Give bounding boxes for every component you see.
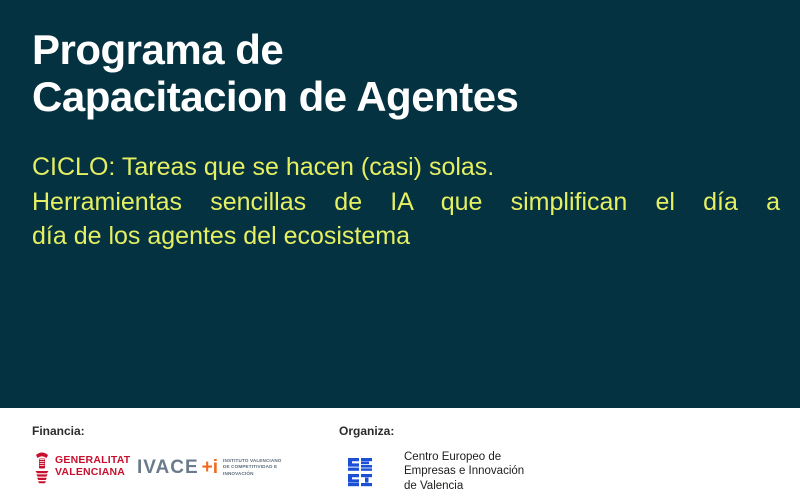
generalitat-crest-icon (34, 450, 50, 484)
financia-label: Financia: (32, 424, 85, 438)
generalitat-valenciana-logo: GENERALITAT VALENCIANA (34, 450, 130, 484)
hero-section: Programa de Capacitacion de Agentes CICL… (0, 0, 800, 408)
generalitat-line-2: VALENCIANA (55, 467, 130, 479)
ceei-mark-icon (348, 455, 396, 489)
event-poster: Programa de Capacitacion de Agentes CICL… (0, 0, 800, 500)
page-title: Programa de Capacitacion de Agentes (32, 26, 752, 120)
ivace-subtitle: INSTITUTO VALENCIANO DE COMPETITIVIDAD E… (223, 458, 285, 477)
date-modality-row: Lunes 6 mayo, 20 mayo y 3 junio PRESENCI… (0, 270, 800, 360)
ceei-line-3: de Valencia (404, 479, 524, 493)
ceei-wordmark: Centro Europeo de Empresas e Innovación … (404, 450, 524, 493)
ceei-line-1: Centro Europeo de (404, 450, 524, 464)
organiza-label: Organiza: (339, 424, 394, 438)
subtitle-line-3: día de los agentes del ecosistema (32, 219, 780, 254)
ivace-logo: IVACE +i INSTITUTO VALENCIANO DE COMPETI… (137, 458, 285, 477)
ceei-line-2: Empresas e Innovación (404, 464, 524, 478)
ivace-plus-mark: +i (202, 458, 218, 477)
footer-section: Financia: Organiza: GENERALITAT VALENCIA… (0, 408, 800, 500)
ceei-valencia-logo: Centro Europeo de Empresas e Innovación … (348, 450, 524, 493)
ivace-wordmark: IVACE (137, 458, 199, 477)
subtitle-line-2: Herramientas sencillas de IA que simplif… (32, 185, 780, 220)
title-line-2: Capacitacion de Agentes (32, 73, 752, 120)
subtitle-line-1: CICLO: Tareas que se hacen (casi) solas. (32, 150, 780, 185)
title-line-1: Programa de (32, 26, 752, 73)
generalitat-wordmark: GENERALITAT VALENCIANA (55, 455, 130, 479)
page-subtitle: CICLO: Tareas que se hacen (casi) solas.… (32, 150, 780, 254)
